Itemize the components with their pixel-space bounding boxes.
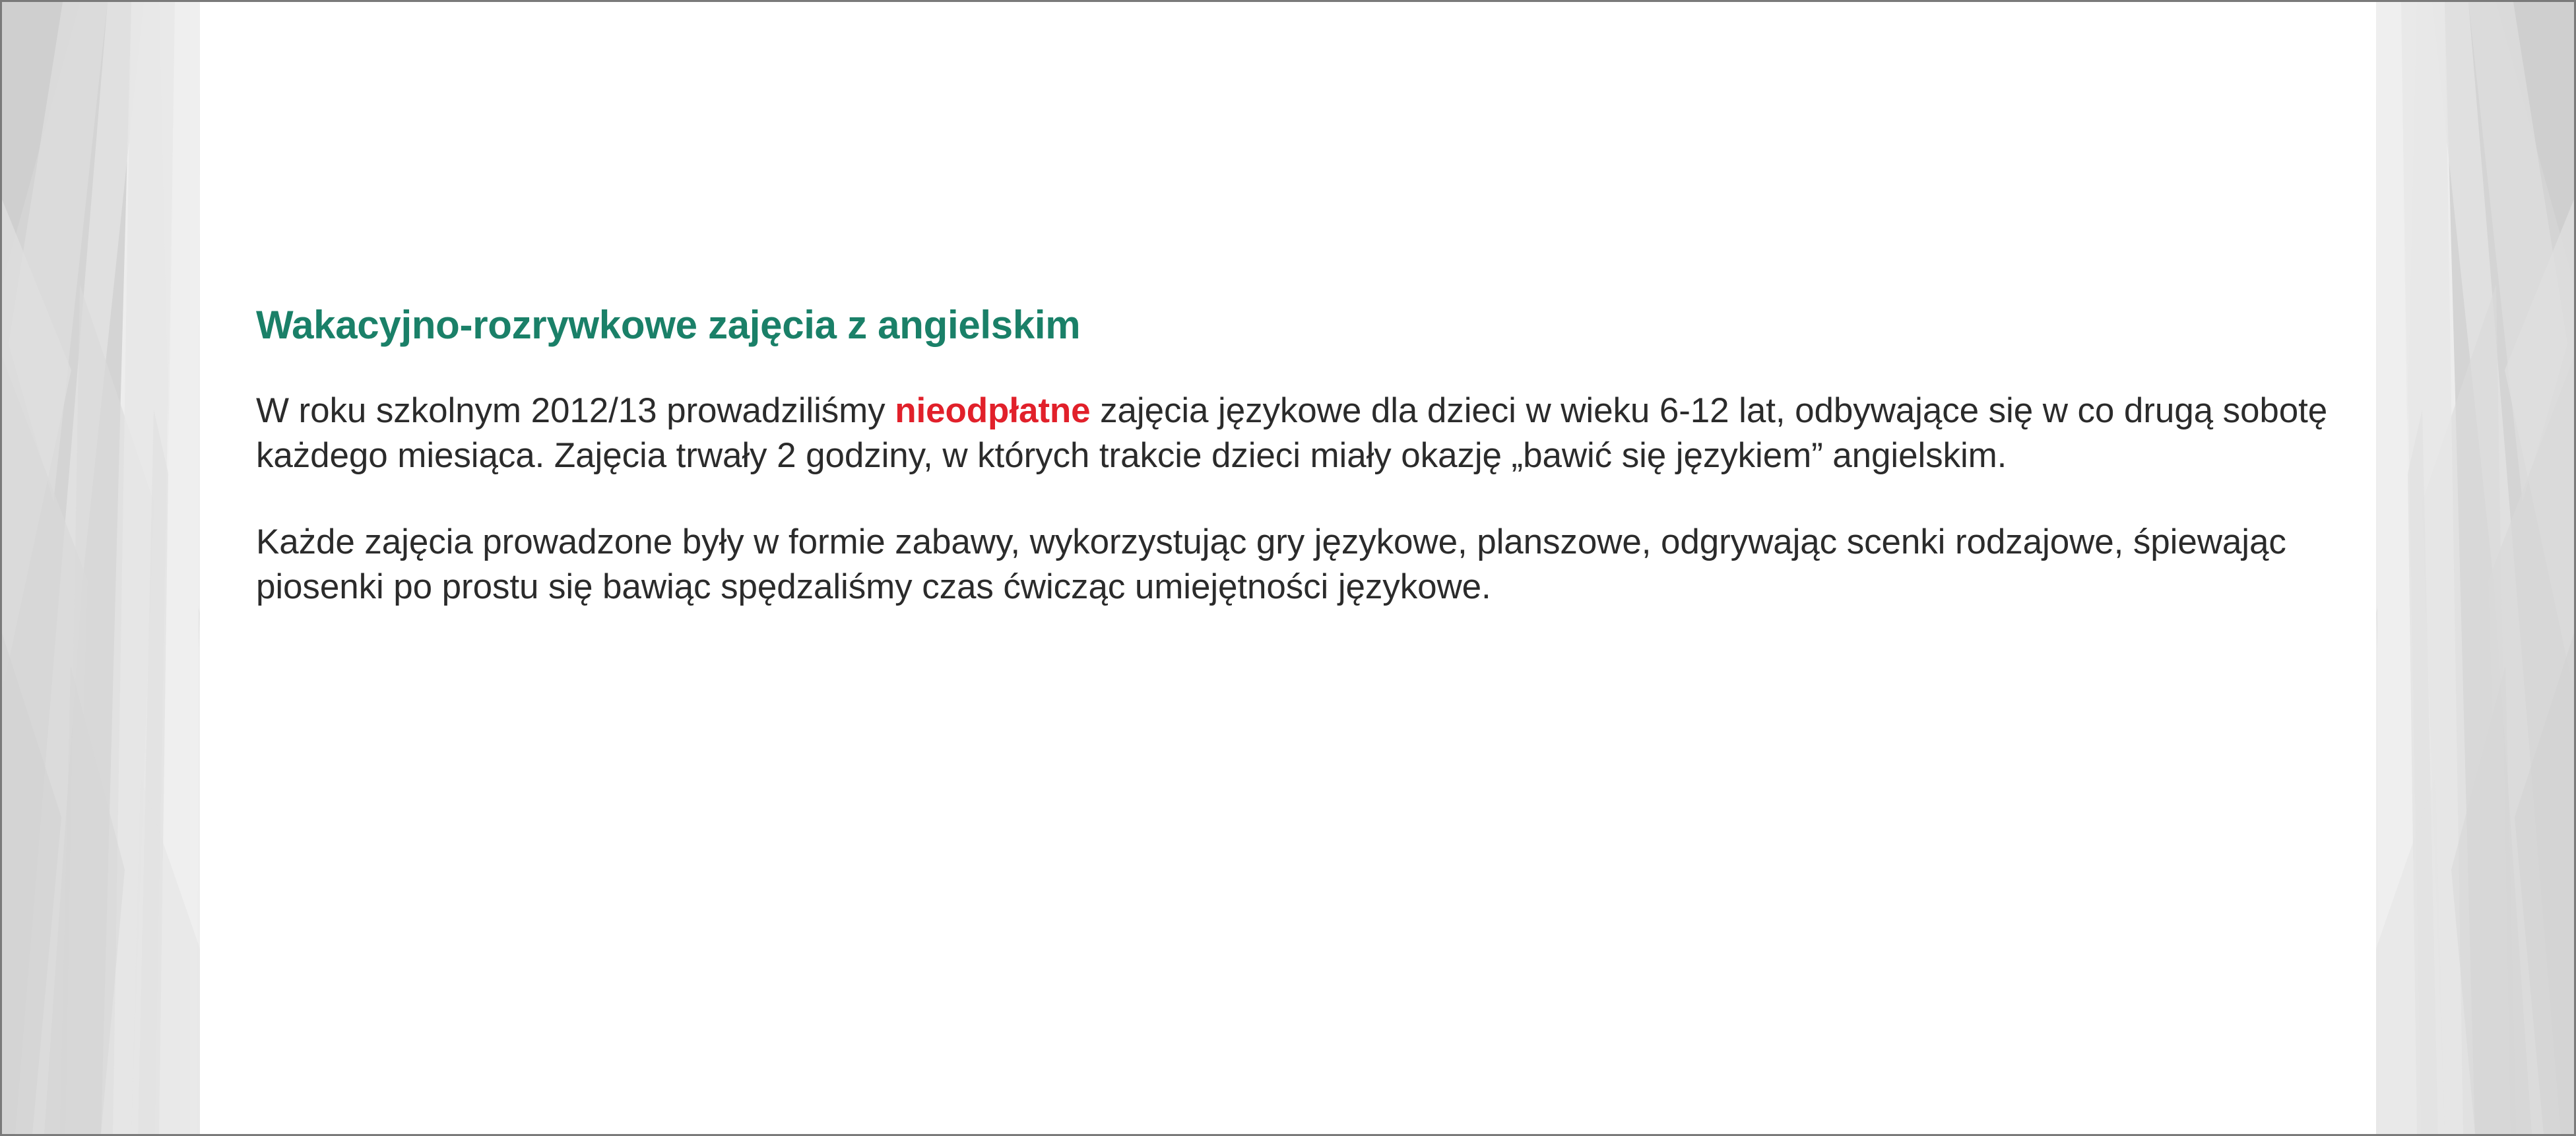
right-band-base (2376, 2, 2574, 1134)
paragraph-1: W roku szkolnym 2012/13 prowadziliśmy ni… (256, 389, 2394, 479)
right-ribbon-shapes (2376, 2, 2574, 1134)
highlight-nieodplatne: nieodpłatne (895, 391, 1090, 430)
left-band-base (2, 2, 200, 1134)
paragraph-2: Każde zajęcia prowadzone były w formie z… (256, 520, 2394, 610)
left-decoration-band (2, 2, 200, 1134)
paragraph-spacer (256, 479, 2394, 520)
slide-content: Wakacyjno-rozrywkowe zajęcia z angielski… (256, 302, 2394, 610)
left-ribbon-shapes (2, 2, 200, 1134)
paragraph-1-text-before: W roku szkolnym 2012/13 prowadziliśmy (256, 391, 895, 430)
slide-title: Wakacyjno-rozrywkowe zajęcia z angielski… (256, 302, 2394, 348)
slide-canvas: Wakacyjno-rozrywkowe zajęcia z angielski… (0, 0, 2576, 1136)
right-decoration-band (2376, 2, 2574, 1134)
